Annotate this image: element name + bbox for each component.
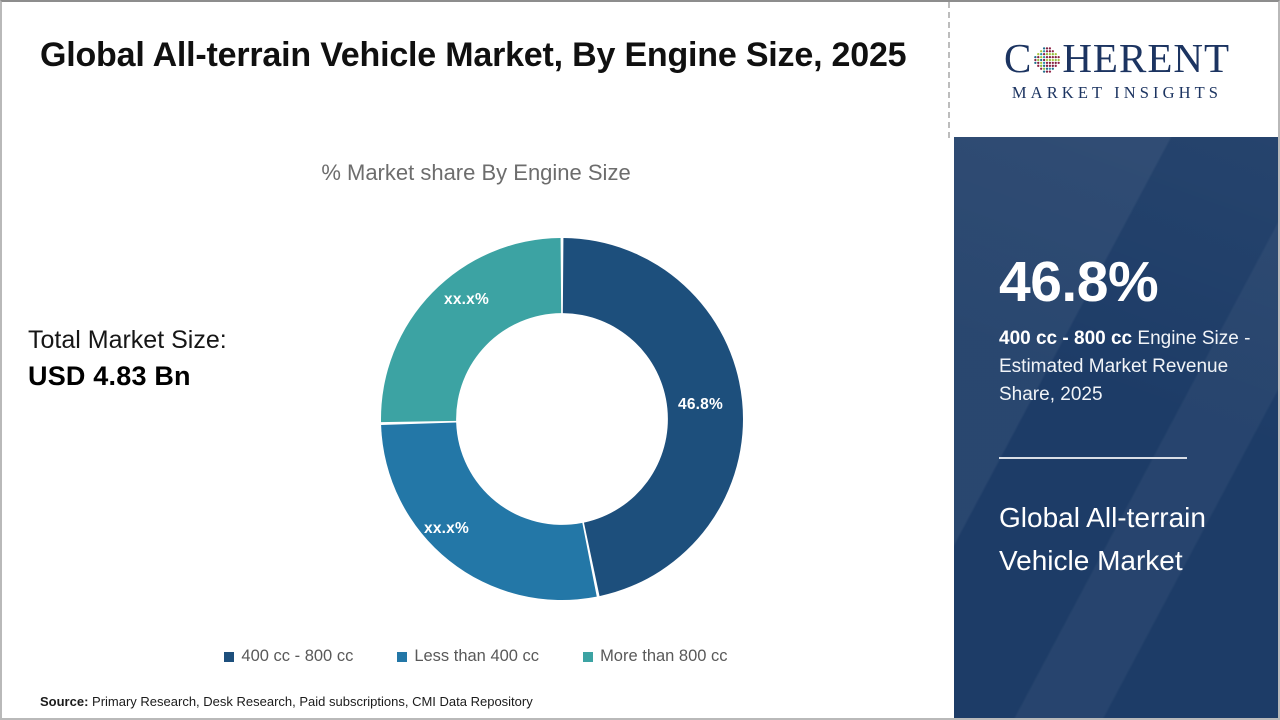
globe-dot: [1055, 53, 1057, 55]
globe-dot: [1052, 65, 1054, 67]
slice-label-less-than-400cc: xx.x%: [424, 520, 469, 538]
globe-dot: [1052, 56, 1054, 58]
globe-dot: [1046, 71, 1048, 73]
total-market-size-value: USD 4.83 Bn: [28, 358, 328, 396]
globe-dot: [1040, 62, 1042, 64]
globe-dot: [1040, 53, 1042, 55]
slice-label-400-800cc: 46.8%: [678, 396, 723, 414]
globe-dot: [1037, 56, 1039, 58]
legend-label: 400 cc - 800 cc: [241, 647, 353, 666]
legend-item-less-than-400cc[interactable]: Less than 400 cc: [397, 647, 539, 666]
globe-dot: [1055, 62, 1057, 64]
chart-legend: 400 cc - 800 cc Less than 400 cc More th…: [2, 647, 950, 666]
legend-item-400-800cc[interactable]: 400 cc - 800 cc: [224, 647, 353, 666]
globe-dot: [1043, 50, 1045, 52]
logo-wordmark: C HERENT: [1004, 38, 1230, 79]
globe-dot: [1049, 50, 1051, 52]
legend-swatch-icon: [583, 652, 593, 662]
globe-dot: [1043, 56, 1045, 58]
source-label: Source:: [40, 694, 88, 709]
logo-tagline: MARKET INSIGHTS: [1012, 85, 1222, 102]
globe-dot: [1046, 62, 1048, 64]
chart-pane: Global All-terrain Vehicle Market, By En…: [2, 2, 950, 718]
highlight-stat-value: 46.8%: [999, 254, 1158, 311]
globe-dot: [1049, 59, 1051, 61]
logo-brand-prefix: C: [1004, 38, 1032, 79]
globe-dot: [1049, 68, 1051, 70]
globe-dot: [1037, 65, 1039, 67]
legend-item-more-than-800cc[interactable]: More than 800 cc: [583, 647, 728, 666]
donut-chart-svg: [378, 233, 746, 605]
globe-dot: [1049, 56, 1051, 58]
globe-dot: [1043, 68, 1045, 70]
highlight-stat-caption: 400 cc - 800 cc Engine Size - Estimated …: [999, 325, 1267, 409]
globe-dot: [1035, 59, 1037, 61]
donut-chart: 46.8% xx.x% xx.x%: [378, 233, 746, 605]
globe-dot: [1049, 53, 1051, 55]
slice-label-more-than-800cc: xx.x%: [444, 291, 489, 309]
globe-dot: [1049, 62, 1051, 64]
globe-dot: [1043, 62, 1045, 64]
globe-dot: [1040, 65, 1042, 67]
donut-slice[interactable]: [381, 238, 561, 422]
page-title: Global All-terrain Vehicle Market, By En…: [40, 30, 920, 81]
globe-dot: [1055, 56, 1057, 58]
globe-dot: [1049, 65, 1051, 67]
donut-slice[interactable]: [381, 422, 597, 600]
globe-dot: [1040, 68, 1042, 70]
legend-label: Less than 400 cc: [414, 647, 539, 666]
globe-dot: [1043, 47, 1045, 49]
globe-dot: [1043, 71, 1045, 73]
donut-slice-group: [381, 238, 743, 600]
total-market-size-label: Total Market Size:: [28, 324, 328, 358]
globe-dot: [1052, 50, 1054, 52]
globe-dot: [1049, 71, 1051, 73]
globe-dot: [1046, 56, 1048, 58]
globe-dot: [1043, 65, 1045, 67]
source-line: Source: Primary Research, Desk Research,…: [40, 694, 533, 709]
globe-dot: [1046, 59, 1048, 61]
globe-dot: [1046, 47, 1048, 49]
globe-dot: [1046, 53, 1048, 55]
highlight-caption-strong: 400 cc - 800 cc: [999, 328, 1132, 349]
globe-dot: [1035, 56, 1037, 58]
legend-swatch-icon: [224, 652, 234, 662]
globe-dot: [1058, 56, 1060, 58]
infographic-figure: Global All-terrain Vehicle Market, By En…: [0, 0, 1280, 720]
panel-divider: [999, 457, 1187, 459]
source-text: Primary Research, Desk Research, Paid su…: [88, 694, 532, 709]
globe-dot: [1052, 68, 1054, 70]
globe-dot: [1055, 65, 1057, 67]
globe-dot: [1040, 56, 1042, 58]
donut-slice[interactable]: [563, 238, 743, 596]
legend-label: More than 800 cc: [600, 647, 728, 666]
globe-dot: [1037, 53, 1039, 55]
highlight-panel: 46.8% 400 cc - 800 cc Engine Size - Esti…: [954, 137, 1280, 718]
globe-dot: [1052, 53, 1054, 55]
globe-dot: [1046, 50, 1048, 52]
globe-dot: [1058, 62, 1060, 64]
globe-dot: [1040, 50, 1042, 52]
globe-dot: [1055, 59, 1057, 61]
globe-dot: [1037, 59, 1039, 61]
branding-pane: C HERENT MARKET INSIGHTS 46.8% 400 cc - …: [954, 2, 1280, 718]
globe-dot: [1058, 59, 1060, 61]
globe-dot: [1046, 68, 1048, 70]
total-market-size-block: Total Market Size: USD 4.83 Bn: [28, 324, 328, 396]
chart-subtitle: % Market share By Engine Size: [2, 160, 950, 186]
globe-dot: [1043, 53, 1045, 55]
globe-dot: [1052, 59, 1054, 61]
legend-swatch-icon: [397, 652, 407, 662]
globe-dot: [1049, 47, 1051, 49]
globe-dot: [1043, 59, 1045, 61]
logo-brand-suffix: HERENT: [1062, 38, 1230, 79]
globe-dot: [1046, 65, 1048, 67]
globe-dot: [1040, 59, 1042, 61]
logo: C HERENT MARKET INSIGHTS: [954, 2, 1280, 137]
panel-market-name: Global All-terrain Vehicle Market: [999, 497, 1249, 582]
globe-dot: [1037, 62, 1039, 64]
vertical-dashed-divider: [948, 2, 950, 138]
globe-dot: [1052, 62, 1054, 64]
globe-dots-icon: [1033, 46, 1061, 74]
globe-dot: [1035, 62, 1037, 64]
